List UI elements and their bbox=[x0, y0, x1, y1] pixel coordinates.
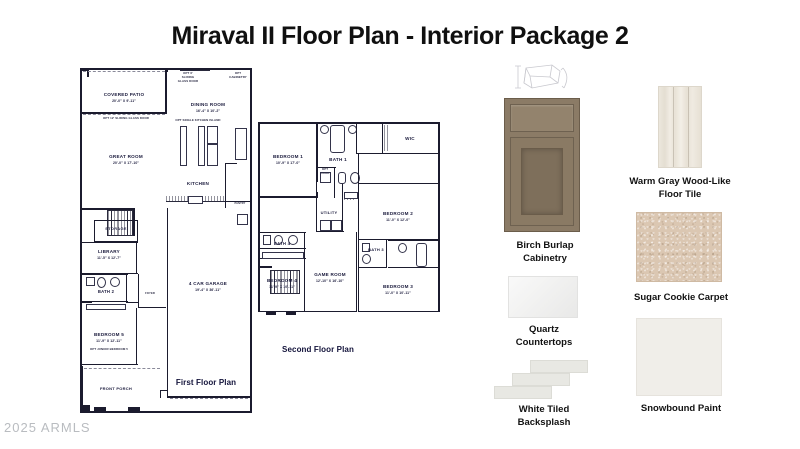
swatch-label-cabinetry-line2: Cabinetry bbox=[523, 253, 567, 264]
cabinet-panel-inner bbox=[521, 148, 563, 215]
cabinet-panel-outer bbox=[510, 137, 574, 226]
room-label-storage: STORAGE bbox=[105, 226, 126, 232]
floor-plan-flyer: Miraval II Floor Plan - Interior Package… bbox=[0, 0, 800, 449]
first-floor-plan: COVERED PATIO 20'-0" X 9'-11" DINING ROO… bbox=[80, 68, 252, 413]
swatch-label-floor-tile: Warm Gray Wood-Like Floor Tile bbox=[595, 176, 765, 202]
option-label-opt-junior-bedroom-5: OPT JUNIOR BEDROOM 5 bbox=[87, 347, 131, 351]
swatch-label-floor-tile-line1: Warm Gray Wood-Like bbox=[629, 176, 730, 187]
room-dim-dining-room: 16'-4" X 10'-2" bbox=[196, 109, 220, 113]
room-label-pantry: PANTRY bbox=[235, 202, 246, 206]
room-dim-bedroom-3: 11'-0" X 10'-11" bbox=[385, 291, 411, 295]
option-label-opt-cabinetry: OPT CABINETRY bbox=[226, 71, 250, 79]
room-label-kitchen: KITCHEN bbox=[187, 181, 209, 188]
room-dim-library: 11'-5" X 12'-7" bbox=[97, 256, 121, 260]
room-label-bath-2: BATH 2 bbox=[98, 289, 114, 295]
room-dim-bedroom-1: 10'-9" X 17'-0" bbox=[276, 161, 300, 165]
room-label-bath-1: BATH 1 bbox=[329, 157, 347, 164]
crown-molding-sketch-icon bbox=[508, 62, 570, 96]
room-dim-4-car-garage: 19'-4" X 36'-11" bbox=[195, 288, 221, 292]
room-dim-great-room: 20'-0" X 17'-10" bbox=[113, 161, 139, 165]
room-label-great-room: GREAT ROOM bbox=[109, 154, 143, 161]
room-label-bedroom-2: BEDROOM 2 bbox=[383, 211, 413, 218]
option-label-opt-door: OPT DOOR bbox=[317, 167, 333, 175]
swatch-label-backsplash-line2: Backsplash bbox=[518, 417, 571, 428]
room-label-front-porch: FRONT PORCH bbox=[100, 386, 132, 392]
swatch-snowbound-paint bbox=[636, 318, 722, 396]
room-dim-game-room: 12'-10" X 16'-10" bbox=[316, 279, 344, 283]
swatch-sugar-cookie-carpet bbox=[636, 212, 722, 282]
room-label-utility: UTILITY bbox=[321, 210, 338, 216]
option-label-opt-single-kitchen-island: OPT SINGLE KITCHEN ISLAND bbox=[166, 118, 230, 122]
swatch-quartz-countertops bbox=[508, 276, 578, 318]
room-label-foyer: FOYER bbox=[145, 292, 155, 296]
swatch-label-cabinetry-line1: Birch Burlap bbox=[516, 240, 573, 251]
swatch-label-backsplash: White Tiled Backsplash bbox=[479, 404, 609, 430]
second-floor-plan: BEDROOM 1 10'-9" X 17'-0" BATH 1 WIC UTI… bbox=[258, 122, 440, 340]
room-label-bath-3: BATH 3 bbox=[368, 248, 384, 253]
swatch-label-carpet: Sugar Cookie Carpet bbox=[591, 292, 771, 305]
room-label-bedroom-1: BEDROOM 1 bbox=[273, 154, 303, 161]
swatch-label-quartz-line2: Countertops bbox=[516, 337, 572, 348]
swatch-label-paint: Snowbound Paint bbox=[591, 403, 771, 416]
room-label-library: LIBRARY bbox=[98, 249, 120, 256]
room-label-bedroom-5: BEDROOM 5 bbox=[94, 332, 124, 339]
room-label-4-car-garage: 4 CAR GARAGE bbox=[189, 281, 227, 288]
swatch-label-carpet-line1: Sugar Cookie Carpet bbox=[634, 292, 728, 303]
swatch-label-floor-tile-line2: Floor Tile bbox=[659, 189, 702, 200]
room-label-wic: WIC bbox=[405, 136, 415, 143]
swatch-label-quartz-line1: Quartz bbox=[529, 324, 559, 335]
room-label-game-room: GAME ROOM bbox=[314, 272, 346, 279]
room-dim-covered-patio: 20'-0" X 9'-11" bbox=[112, 99, 136, 103]
watermark: 2025 ARMLS bbox=[4, 420, 91, 435]
swatch-birch-burlap-cabinetry bbox=[504, 98, 580, 232]
cabinet-drawer-detail bbox=[510, 104, 574, 132]
option-label-opt-12ft-sliding-glass-door: OPT 12' SLIDING GLASS DOOR bbox=[81, 116, 171, 120]
option-label-opt-6ft-sliding-glass-door: OPT 6' SLIDING GLASS DOOR bbox=[177, 71, 199, 84]
swatch-label-paint-line1: Snowbound Paint bbox=[641, 403, 721, 414]
second-floor-plan-caption: Second Floor Plan bbox=[282, 345, 354, 354]
room-label-bedroom-3: BEDROOM 3 bbox=[383, 284, 413, 291]
room-dim-bedroom-5: 11'-9" X 12'-11" bbox=[96, 339, 122, 343]
room-dim-bedroom-2: 11'-0" X 12'-0" bbox=[386, 218, 410, 222]
swatch-label-backsplash-line1: White Tiled bbox=[519, 404, 570, 415]
swatch-label-quartz: Quartz Countertops bbox=[484, 324, 604, 350]
room-label-bedroom-4: BEDROOM 4 bbox=[267, 278, 297, 285]
room-dim-bedroom-4: 11'-9" X 10'-11" bbox=[269, 285, 295, 289]
first-floor-plan-caption: First Floor Plan bbox=[176, 378, 236, 387]
swatch-white-tiled-backsplash bbox=[494, 360, 588, 400]
room-label-dining-room: DINING ROOM bbox=[191, 102, 225, 109]
swatch-label-cabinetry: Birch Burlap Cabinetry bbox=[480, 240, 610, 266]
room-label-covered-patio: COVERED PATIO bbox=[104, 92, 145, 99]
room-label-bath-4: BATH 4 bbox=[274, 241, 290, 247]
page-title: Miraval II Floor Plan - Interior Package… bbox=[0, 22, 800, 51]
swatch-warm-gray-wood-like-floor-tile bbox=[658, 86, 702, 168]
